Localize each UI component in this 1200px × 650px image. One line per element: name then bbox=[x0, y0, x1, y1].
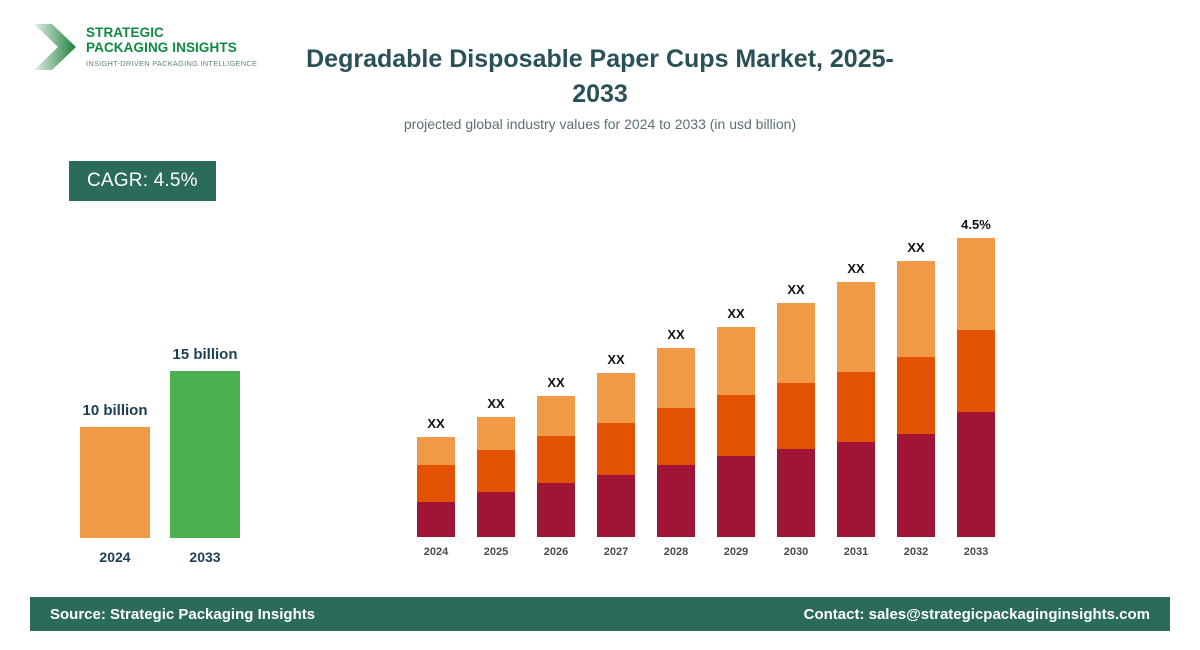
logo-tagline: INSIGHT-DRIVEN PACKAGING INTELLIGENCE bbox=[86, 59, 257, 68]
stacked-bar-2024: XX2024 bbox=[417, 437, 455, 537]
forecast-stacked-bar-chart: XX2024XX2025XX2026XX2027XX2028XX2029XX20… bbox=[400, 200, 1020, 560]
stack-segment-segment-bottom bbox=[477, 492, 515, 537]
overview-bar-2033: 15 billion2033 bbox=[170, 371, 240, 538]
chevron-right-icon bbox=[32, 22, 78, 72]
stack-segment-segment-middle bbox=[417, 465, 455, 502]
stack-segment-segment-bottom bbox=[777, 449, 815, 537]
footer-contact: Contact: sales@strategicpackaginginsight… bbox=[804, 606, 1150, 623]
stack-segment-segment-middle bbox=[717, 395, 755, 456]
stacked-bar-2031: XX2031 bbox=[837, 282, 875, 537]
stack-segment-segment-middle bbox=[897, 357, 935, 434]
stacked-bar-2025: XX2025 bbox=[477, 417, 515, 537]
stacked-bar-2033: 4.5%2033 bbox=[957, 238, 995, 537]
stacked-bar-value-label: XX bbox=[876, 240, 956, 255]
stack-segment-segment-top bbox=[897, 261, 935, 357]
brand-logo: STRATEGIC PACKAGING INSIGHTS INSIGHT-DRI… bbox=[32, 16, 282, 78]
logo-line-2: PACKAGING INSIGHTS bbox=[86, 41, 257, 56]
stacked-bar-2026: XX2026 bbox=[537, 396, 575, 537]
logo-line-1: STRATEGIC bbox=[86, 26, 257, 41]
stacked-bar-value-label: XX bbox=[396, 416, 476, 431]
stacked-bar-2030: XX2030 bbox=[777, 303, 815, 537]
bar-category-label: 2033 bbox=[130, 549, 280, 565]
stack-segment-segment-top bbox=[777, 303, 815, 383]
footer-bar: Source: Strategic Packaging Insights Con… bbox=[30, 597, 1170, 631]
stacked-bar-2028: XX2028 bbox=[657, 348, 695, 537]
stacked-bar-2027: XX2027 bbox=[597, 373, 635, 537]
stack-segment-segment-top bbox=[417, 437, 455, 465]
footer-source: Source: Strategic Packaging Insights bbox=[50, 606, 315, 623]
stack-segment-segment-bottom bbox=[417, 502, 455, 537]
cagr-badge: CAGR: 4.5% bbox=[69, 161, 216, 201]
stacked-bar-value-label: XX bbox=[576, 352, 656, 367]
stacked-bar-value-label: XX bbox=[696, 306, 776, 321]
stacked-bar-value-label: XX bbox=[516, 375, 596, 390]
page-subtitle: projected global industry values for 202… bbox=[280, 116, 920, 132]
overview-bar-2024: 10 billion2024 bbox=[80, 427, 150, 538]
overview-bar-chart: 10 billion202415 billion2033 bbox=[40, 300, 290, 570]
stack-segment-segment-bottom bbox=[537, 483, 575, 537]
stacked-bar-2032: XX2032 bbox=[897, 261, 935, 537]
stack-segment-segment-middle bbox=[837, 372, 875, 442]
stack-segment-segment-bottom bbox=[717, 456, 755, 537]
stack-segment-segment-middle bbox=[957, 330, 995, 412]
stacked-bar-value-label: XX bbox=[456, 396, 536, 411]
stack-segment-segment-middle bbox=[657, 408, 695, 465]
stacked-bar-category-label: 2033 bbox=[941, 546, 1011, 558]
bar-rect bbox=[80, 427, 150, 538]
stack-segment-segment-middle bbox=[597, 423, 635, 475]
stack-segment-segment-top bbox=[957, 238, 995, 330]
stack-segment-segment-bottom bbox=[657, 465, 695, 537]
stack-segment-segment-middle bbox=[777, 383, 815, 449]
stack-segment-segment-top bbox=[717, 327, 755, 395]
stacked-bar-value-label: XX bbox=[756, 282, 836, 297]
bar-rect bbox=[170, 371, 240, 538]
stack-segment-segment-bottom bbox=[597, 475, 635, 537]
stacked-bar-value-label: 4.5% bbox=[936, 217, 1016, 232]
logo-text-block: STRATEGIC PACKAGING INSIGHTS INSIGHT-DRI… bbox=[86, 26, 257, 68]
stack-segment-segment-bottom bbox=[897, 434, 935, 537]
page-title: Degradable Disposable Paper Cups Market,… bbox=[280, 42, 920, 111]
stacked-bar-value-label: XX bbox=[636, 327, 716, 342]
stacked-bar-value-label: XX bbox=[816, 261, 896, 276]
stack-segment-segment-top bbox=[537, 396, 575, 436]
bar-value-label: 10 billion bbox=[40, 402, 190, 419]
stack-segment-segment-top bbox=[597, 373, 635, 423]
stack-segment-segment-top bbox=[837, 282, 875, 372]
bar-value-label: 15 billion bbox=[130, 346, 280, 363]
stack-segment-segment-top bbox=[657, 348, 695, 408]
stack-segment-segment-top bbox=[477, 417, 515, 450]
stack-segment-segment-middle bbox=[477, 450, 515, 492]
stack-segment-segment-bottom bbox=[957, 412, 995, 537]
stack-segment-segment-middle bbox=[537, 436, 575, 483]
stack-segment-segment-bottom bbox=[837, 442, 875, 537]
stacked-bar-2029: XX2029 bbox=[717, 327, 755, 537]
